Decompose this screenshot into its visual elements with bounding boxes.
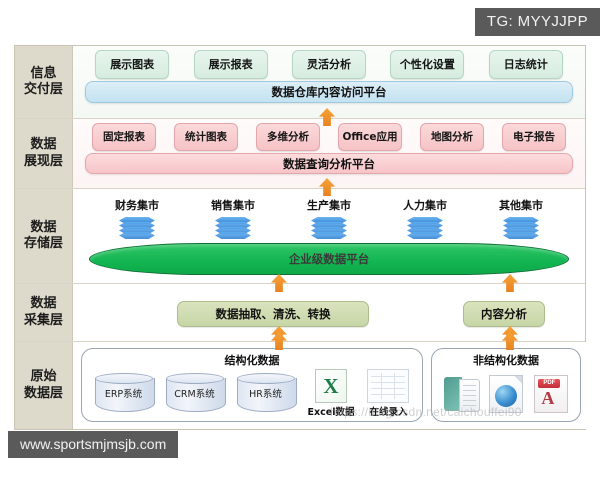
layer-label-line1: 原始: [24, 369, 63, 385]
layer-body-raw-data: 结构化数据 ERP系统 CRM系统: [73, 342, 589, 429]
layer-data-storage: 数据 存储层 财务集市 销售集市 生产集市 人力集市: [15, 189, 585, 284]
layer-label-line1: 数据: [24, 220, 63, 236]
data-mart-sales[interactable]: 销售集市: [196, 197, 270, 239]
pill-display-reports[interactable]: 展示报表: [194, 50, 268, 79]
layer-body-data-presentation: 固定报表 统计图表 多维分析 Office应用 地图分析 电子报告 数据查询分析…: [73, 119, 585, 188]
mart-label: 生产集市: [307, 197, 351, 213]
layer-label-line2: 存储层: [24, 236, 63, 252]
book-document-icon: [444, 376, 478, 412]
layer-label-line1: 数据: [24, 296, 63, 312]
pdf-tag-label: PDF: [538, 379, 560, 388]
layer-label-data-collection: 数据 采集层: [15, 284, 73, 341]
pill-office-application[interactable]: Office应用: [338, 123, 402, 151]
raw-item-excel[interactable]: X Excel数据: [308, 369, 355, 418]
cube-stack-icon: [311, 217, 347, 239]
site-watermark: www.sportsmjmsjb.com: [8, 431, 178, 458]
unstructured-data-items: PDF A: [432, 368, 580, 421]
data-mart-hr[interactable]: 人力集市: [388, 197, 462, 239]
pill-statistical-chart[interactable]: 统计图表: [174, 123, 238, 151]
mart-label: 销售集市: [211, 197, 255, 213]
layer-body-info-delivery: 展示图表 展示报表 灵活分析 个性化设置 日志统计 数据仓库内容访问平台: [73, 46, 585, 118]
pill-flexible-analysis[interactable]: 灵活分析: [292, 50, 366, 79]
data-mart-finance[interactable]: 财务集市: [100, 197, 174, 239]
box-etl-process[interactable]: 数据抽取、清洗、转换: [177, 301, 369, 327]
mart-label: 人力集市: [403, 197, 447, 213]
tg-watermark: TG: MYYJJPP: [475, 8, 600, 36]
structured-data-title: 结构化数据: [82, 349, 422, 368]
group-unstructured-data: 非结构化数据 PD: [431, 348, 581, 422]
online-form-icon: [367, 369, 409, 403]
bar-warehouse-access-platform[interactable]: 数据仓库内容访问平台: [85, 81, 573, 103]
cube-stack-icon: [407, 217, 443, 239]
pdf-file-icon: PDF A: [534, 375, 568, 413]
raw-item-hr[interactable]: HR系统: [237, 373, 295, 415]
structured-data-items: ERP系统 CRM系统 HR系统: [82, 368, 422, 421]
layer-label-line2: 交付层: [24, 82, 63, 98]
layer-raw-data: 原始 数据层 结构化数据 ERP系统: [15, 342, 585, 429]
pill-map-analysis[interactable]: 地图分析: [420, 123, 484, 151]
cube-stack-icon: [503, 217, 539, 239]
cube-stack-icon: [119, 217, 155, 239]
data-mart-other[interactable]: 其他集市: [484, 197, 558, 239]
pill-log-statistics[interactable]: 日志统计: [489, 50, 563, 79]
data-mart-row: 财务集市 销售集市 生产集市 人力集市 其他集市: [73, 189, 585, 239]
excel-caption: Excel数据: [308, 404, 355, 418]
layer-label-info-delivery: 信息 交付层: [15, 46, 73, 118]
layer-label-data-storage: 数据 存储层: [15, 189, 73, 283]
database-cylinder-icon: ERP系统: [95, 373, 153, 415]
excel-file-icon: X: [315, 369, 347, 403]
raw-item-pdf[interactable]: PDF A: [534, 375, 568, 413]
layer-label-raw-data: 原始 数据层: [15, 342, 73, 429]
layer-data-collection: 数据 采集层 数据抽取、清洗、转换 内容分析: [15, 284, 585, 342]
db-label: HR系统: [241, 390, 291, 401]
pill-personalized-settings[interactable]: 个性化设置: [390, 50, 464, 79]
layer-data-presentation: 数据 展现层 固定报表 统计图表 多维分析 Office应用 地图分析 电子报告…: [15, 119, 585, 189]
db-label: ERP系统: [99, 390, 149, 401]
bar-query-analysis-platform[interactable]: 数据查询分析平台: [85, 153, 573, 174]
cube-stack-icon: [215, 217, 251, 239]
layer-body-data-storage: 财务集市 销售集市 生产集市 人力集市 其他集市: [73, 189, 585, 283]
layer-label-data-presentation: 数据 展现层: [15, 119, 73, 188]
raw-item-crm[interactable]: CRM系统: [166, 373, 224, 415]
online-entry-caption: 在线录入: [369, 404, 407, 418]
layer-label-line2: 采集层: [24, 313, 63, 329]
unstructured-data-title: 非结构化数据: [432, 349, 580, 368]
raw-item-webpage[interactable]: [489, 375, 523, 413]
pill-fixed-report[interactable]: 固定报表: [92, 123, 156, 151]
layer-info-delivery: 信息 交付层 展示图表 展示报表 灵活分析 个性化设置 日志统计 数据仓库内容访…: [15, 46, 585, 119]
web-page-globe-icon: [489, 375, 523, 413]
layer-label-line2: 展现层: [24, 154, 63, 170]
info-delivery-pill-row: 展示图表 展示报表 灵活分析 个性化设置 日志统计: [73, 53, 585, 75]
pill-display-charts[interactable]: 展示图表: [95, 50, 169, 79]
raw-item-online-entry[interactable]: 在线录入: [367, 369, 409, 418]
database-cylinder-icon: HR系统: [237, 373, 295, 415]
presentation-pill-row: 固定报表 统计图表 多维分析 Office应用 地图分析 电子报告: [73, 126, 585, 147]
box-content-analysis[interactable]: 内容分析: [463, 301, 545, 327]
layer-label-line1: 信息: [24, 66, 63, 82]
group-structured-data: 结构化数据 ERP系统 CRM系统: [81, 348, 423, 422]
enterprise-data-platform[interactable]: 企业级数据平台: [89, 243, 569, 275]
pill-electronic-report[interactable]: 电子报告: [502, 123, 566, 151]
raw-item-document[interactable]: [444, 376, 478, 412]
data-mart-production[interactable]: 生产集市: [292, 197, 366, 239]
pill-multidimensional-analysis[interactable]: 多维分析: [256, 123, 320, 151]
layer-label-line2: 数据层: [24, 386, 63, 402]
mart-label: 其他集市: [499, 197, 543, 213]
db-label: CRM系统: [170, 390, 220, 401]
database-cylinder-icon: CRM系统: [166, 373, 224, 415]
architecture-diagram: 信息 交付层 展示图表 展示报表 灵活分析 个性化设置 日志统计 数据仓库内容访…: [14, 45, 586, 430]
mart-label: 财务集市: [115, 197, 159, 213]
raw-item-erp[interactable]: ERP系统: [95, 373, 153, 415]
layer-label-line1: 数据: [24, 137, 63, 153]
